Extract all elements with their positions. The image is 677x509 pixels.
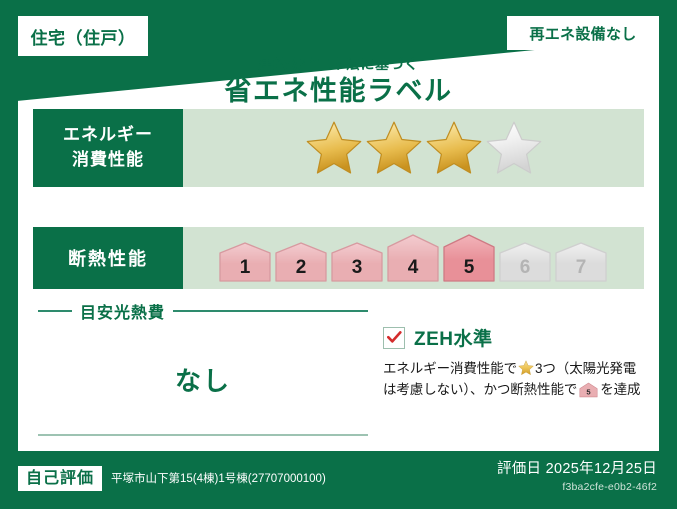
insulation-level-3: 3 (330, 241, 384, 283)
utility-cost-rule-left (38, 310, 72, 312)
header-subtitle: 建築物省エネ法に基づく (18, 56, 659, 73)
insulation-level-value: 3 (351, 257, 362, 278)
energy-performance-row: エネルギー 消費性能 (33, 109, 644, 187)
check-icon (387, 331, 402, 344)
star-icon-filled (306, 120, 362, 176)
insulation-level-value: 1 (239, 257, 250, 278)
utility-cost-rule-right (173, 310, 368, 312)
insulation-level-value: 4 (407, 257, 418, 278)
insulation-level-value: 5 (463, 257, 474, 278)
star-icon-filled (426, 120, 482, 176)
property-address: 平塚市山下第15(4棟)1号棟(27707000100) (111, 470, 326, 486)
insulation-performance-label-box: 断熱性能 (33, 227, 183, 289)
insulation-level-2: 2 (274, 241, 328, 283)
renewable-energy-badge: 再エネ設備なし (507, 16, 659, 50)
utility-cost-bottom-rule (38, 434, 368, 436)
energy-performance-label-box: エネルギー 消費性能 (33, 109, 183, 187)
insulation-level-value: 7 (575, 257, 586, 278)
insulation-level-6: 6 (498, 241, 552, 283)
energy-performance-label: 住宅（住戸） 再エネ設備なし 建築物省エネ法に基づく 省エネ性能ラベル エネルギ… (0, 0, 677, 509)
zeh-desc-part2: 3つ（太陽光発電 (535, 361, 636, 376)
insulation-level-value: 6 (519, 257, 530, 278)
house-icon-inline: 5 (579, 382, 598, 398)
star-icon-empty (486, 120, 542, 176)
utility-cost-block: 目安光熱費 なし (38, 299, 368, 398)
label-header: 建築物省エネ法に基づく 省エネ性能ラベル (18, 56, 659, 109)
zeh-checkbox[interactable] (383, 327, 405, 349)
insulation-level-7: 7 (554, 241, 608, 283)
self-evaluation-badge: 自己評価 (18, 466, 102, 491)
energy-label-line1: エネルギー (63, 123, 153, 148)
footer-right: 評価日 2025年12月25日 f3ba2cfe-e0b2-46f2 (497, 457, 657, 493)
star-icon-filled (366, 120, 422, 176)
label-content: 住宅（住戸） 再エネ設備なし 建築物省エネ法に基づく 省エネ性能ラベル エネルギ… (18, 16, 659, 451)
page-title: 省エネ性能ラベル (18, 75, 659, 109)
insulation-label-text: 断熱性能 (68, 245, 148, 271)
utility-cost-value: なし (38, 361, 368, 398)
footer-left: 自己評価 平塚市山下第15(4棟)1号棟(27707000100) (18, 466, 326, 491)
insulation-level-5: 5 (442, 233, 496, 283)
star-rating (183, 109, 644, 187)
zeh-desc-part3: は考慮しない）、かつ断熱性能で (383, 382, 577, 397)
zeh-desc-part4: を達成 (600, 382, 640, 397)
zeh-header: ZEH水準 (383, 324, 673, 351)
insulation-level-scale: 1234567 (183, 227, 644, 289)
zeh-block: ZEH水準 エネルギー消費性能で3つ（太陽光発電は考慮しない）、かつ断熱性能で5… (383, 324, 673, 401)
zeh-desc-part1: エネルギー消費性能で (383, 361, 517, 376)
building-type-badge: 住宅（住戸） (18, 16, 148, 56)
document-id: f3ba2cfe-e0b2-46f2 (497, 481, 657, 493)
star-icon-inline (518, 360, 534, 376)
evaluation-date: 評価日 2025年12月25日 (497, 457, 657, 478)
zeh-description: エネルギー消費性能で3つ（太陽光発電は考慮しない）、かつ断熱性能で5を達成 (383, 359, 673, 401)
insulation-level-4: 4 (386, 233, 440, 283)
energy-label-line2: 消費性能 (72, 148, 144, 173)
insulation-level-1: 1 (218, 241, 272, 283)
renewable-energy-label: 再エネ設備なし (529, 23, 636, 44)
utility-cost-title: 目安光熱費 (80, 299, 165, 323)
insulation-level-value: 2 (295, 257, 306, 278)
utility-cost-header: 目安光熱費 (38, 299, 368, 323)
insulation-performance-row: 断熱性能 1234567 (33, 227, 644, 289)
building-type-label: 住宅（住戸） (31, 24, 136, 49)
zeh-title: ZEH水準 (414, 324, 493, 351)
